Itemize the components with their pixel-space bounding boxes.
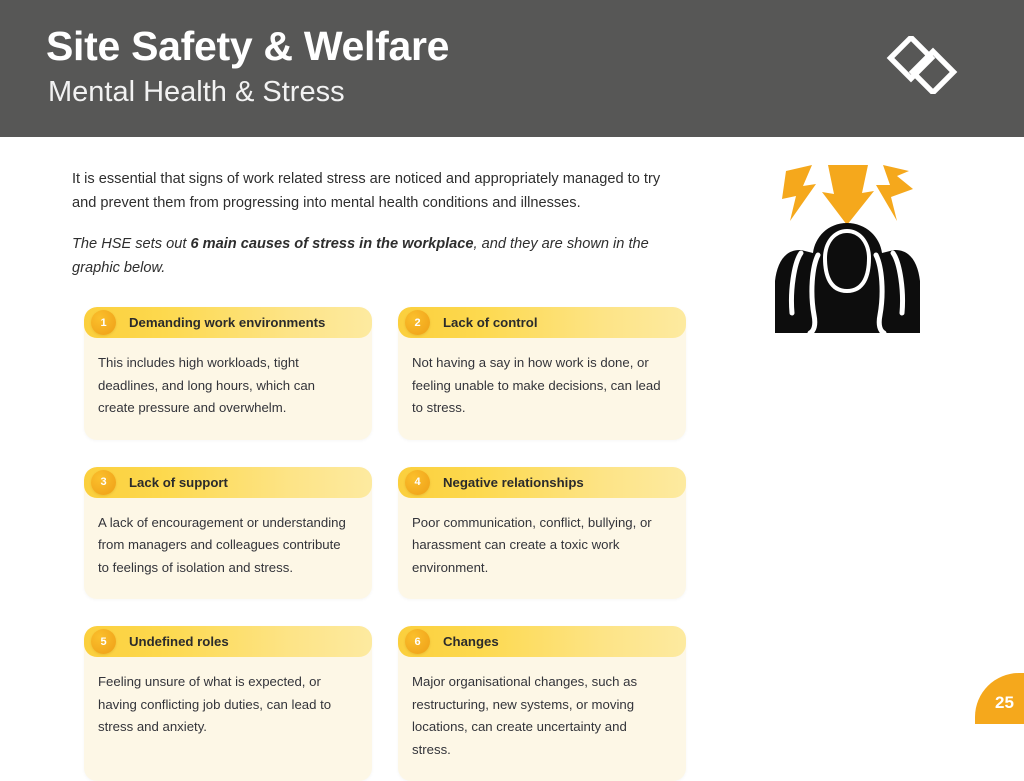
card-body-text: Feeling unsure of what is expected, or h… [84,657,372,759]
intro-paragraph: It is essential that signs of work relat… [72,168,687,215]
cause-card-5: 5 Undefined roles Feeling unsure of what… [84,626,372,781]
figure-head-fill [827,233,867,289]
cause-card-4: 4 Negative relationships Poor communicat… [398,467,686,600]
card-number-badge: 5 [91,629,116,654]
lightning-bolt-right [876,165,913,221]
cause-card-3: 3 Lack of support A lack of encouragemen… [84,467,372,600]
card-title: Changes [443,634,499,649]
card-number-badge: 1 [91,310,116,335]
lightning-bolt-center [822,165,874,225]
card-header: 6 Changes [398,626,686,657]
stressed-person-with-lightning-bolts-icon [770,163,925,338]
page-title: Site Safety & Welfare [46,24,449,69]
interlocking-diamonds-logo [883,36,961,94]
page-number-badge: 25 [975,673,1024,724]
card-number-badge: 4 [405,470,430,495]
slide-header-band: Site Safety & Welfare Mental Health & St… [0,0,1024,137]
cause-card-6: 6 Changes Major organisational changes, … [398,626,686,781]
card-header: 2 Lack of control [398,307,686,338]
intro-emphasis-bold: 6 main causes of stress in the workplace [190,236,473,252]
page-subtitle: Mental Health & Stress [48,77,345,109]
card-body-text: Not having a say in how work is done, or… [398,338,686,440]
card-title: Undefined roles [129,634,229,649]
card-body-text: This includes high workloads, tight dead… [84,338,372,440]
card-header: 1 Demanding work environments [84,307,372,338]
intro-emphasis-lead: The HSE sets out [72,236,190,252]
cause-card-1: 1 Demanding work environments This inclu… [84,307,372,440]
lightning-bolt-left [782,165,816,221]
card-body-text: Poor communication, conflict, bullying, … [398,498,686,600]
stress-causes-grid: 1 Demanding work environments This inclu… [84,307,684,781]
card-header: 4 Negative relationships [398,467,686,498]
card-header: 3 Lack of support [84,467,372,498]
intro-emphasis-paragraph: The HSE sets out 6 main causes of stress… [72,233,687,280]
card-number-badge: 2 [405,310,430,335]
card-header: 5 Undefined roles [84,626,372,657]
card-title: Lack of support [129,475,228,490]
card-title: Lack of control [443,315,538,330]
card-title: Demanding work environments [129,315,325,330]
card-number-badge: 3 [91,470,116,495]
card-body-text: Major organisational changes, such as re… [398,657,686,781]
card-title: Negative relationships [443,475,584,490]
card-number-badge: 6 [405,629,430,654]
cause-card-2: 2 Lack of control Not having a say in ho… [398,307,686,440]
card-body-text: A lack of encouragement or understanding… [84,498,372,600]
intro-text-block: It is essential that signs of work relat… [72,168,687,280]
